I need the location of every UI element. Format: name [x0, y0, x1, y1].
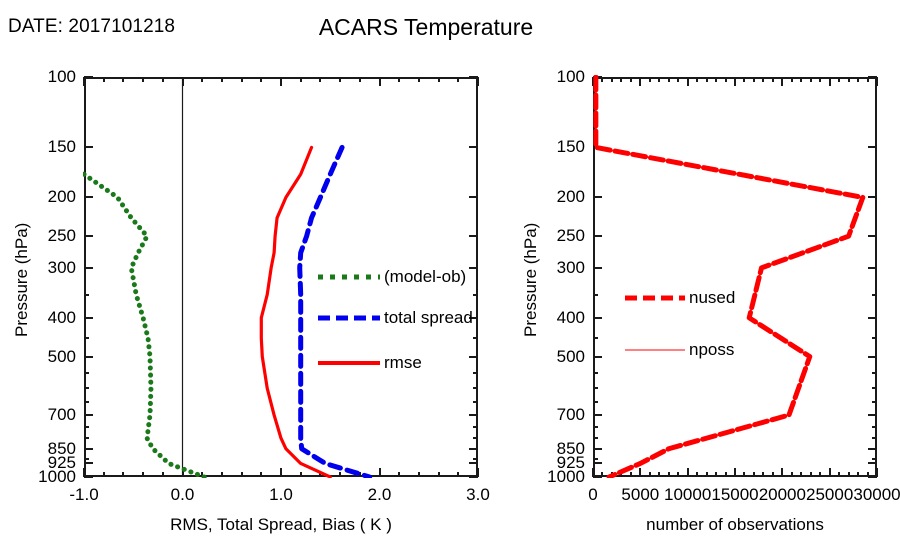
- right-legend-label: nposs: [689, 340, 734, 360]
- right-legend-swatch: [625, 349, 685, 351]
- right-legend-swatch: [625, 296, 685, 301]
- right-panel: 1001502002503004005007008509251000050001…: [0, 0, 900, 560]
- right-legend-label: nused: [689, 288, 735, 308]
- right-curves: [0, 0, 900, 560]
- figure-root: DATE: 2017101218 ACARS Temperature 10015…: [0, 0, 900, 560]
- series-line: [596, 77, 863, 477]
- series-line: [596, 77, 863, 477]
